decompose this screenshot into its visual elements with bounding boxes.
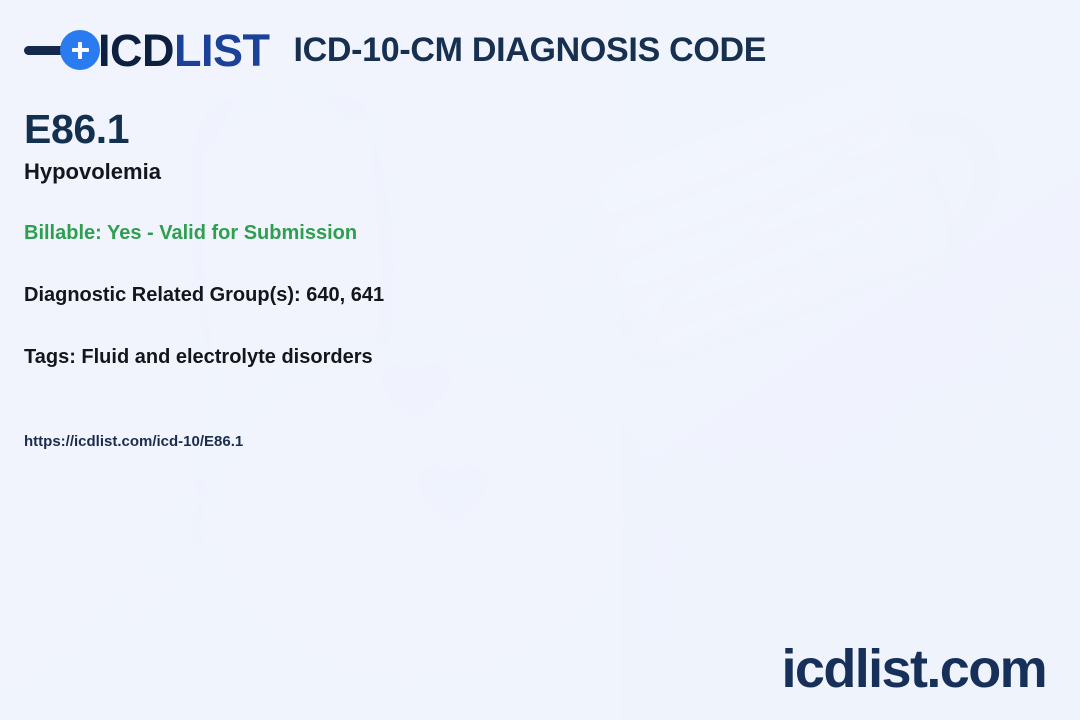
- page-title: ICD-10-CM DIAGNOSIS CODE: [294, 33, 767, 67]
- logo-wordmark-list: LIST: [174, 25, 270, 76]
- diagnosis-description: Hypovolemia: [24, 159, 664, 185]
- diagnosis-code: E86.1: [24, 108, 664, 151]
- icdlist-logo[interactable]: ICDLIST: [24, 28, 270, 73]
- source-url[interactable]: https://icdlist.com/icd-10/E86.1: [24, 433, 664, 451]
- plus-circle-icon: [60, 30, 100, 70]
- page-header: ICDLIST ICD-10-CM DIAGNOSIS CODE: [0, 0, 1080, 100]
- footer-wordmark: icdlist.com: [782, 642, 1046, 696]
- billable-status: Billable: Yes - Valid for Submission: [24, 221, 664, 245]
- logo-wordmark-icd: ICD: [98, 25, 174, 76]
- logo-wordmark: ICDLIST: [98, 28, 270, 73]
- icd-code-card: ICDLIST ICD-10-CM DIAGNOSIS CODE E86.1 H…: [0, 0, 1080, 720]
- tags: Tags: Fluid and electrolyte disorders: [24, 345, 664, 369]
- code-details: E86.1 Hypovolemia Billable: Yes - Valid …: [24, 108, 664, 451]
- diagnostic-related-groups: Diagnostic Related Group(s): 640, 641: [24, 283, 664, 307]
